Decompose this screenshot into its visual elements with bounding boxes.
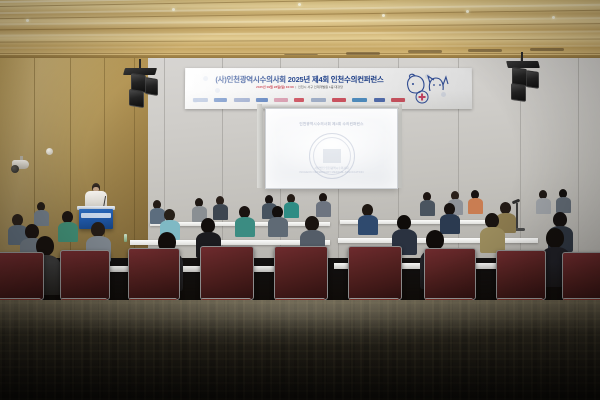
sponsor-logo bbox=[274, 98, 288, 102]
floor bbox=[0, 300, 600, 400]
sponsor-logo bbox=[311, 98, 326, 102]
sponsor-logo bbox=[234, 98, 250, 102]
screen-frame-left bbox=[257, 104, 263, 188]
wall-fixture bbox=[46, 148, 53, 155]
banner-date: 2025년 09월 28일(일) 10:00 bbox=[256, 85, 294, 89]
event-banner: (사)인천광역시수의사회 2025년 제4회 인천수의컨퍼런스 2025년 09… bbox=[185, 68, 472, 109]
banner-title: (사)인천광역시수의사회 2025년 제4회 인천수의컨퍼런스 bbox=[197, 76, 402, 83]
sponsor-logo bbox=[193, 98, 208, 102]
sponsor-logo bbox=[214, 98, 227, 102]
slide-heading: 인천광역시수의사회 제4회 수의컨퍼런스 bbox=[266, 122, 397, 127]
camera-lens-icon bbox=[11, 165, 19, 173]
slide-footer: 사단법인 인천광역시수의사회 INCHEON VETERINARY MEDICA… bbox=[266, 166, 397, 174]
banner-subtitle: 2025년 09월 28일(일) 10:00 | 인천시 서구 인재개발원 1층… bbox=[197, 86, 402, 89]
sponsor-logo bbox=[256, 98, 268, 102]
sponsor-logo bbox=[332, 98, 346, 102]
ceiling bbox=[0, 0, 600, 62]
sponsor-logo bbox=[391, 98, 405, 102]
sponsor-logo bbox=[294, 98, 304, 102]
banner-venue: 인천시 서구 인재개발원 1층 대강당 bbox=[298, 85, 343, 89]
conference-hall-photo: (사)인천광역시수의사회 2025년 제4회 인천수의컨퍼런스 2025년 09… bbox=[0, 0, 600, 400]
sponsor-logo-strip bbox=[193, 95, 405, 104]
sponsor-logo bbox=[374, 98, 385, 102]
projection-screen: 인천광역시수의사회 제4회 수의컨퍼런스 사단법인 인천광역시수의사회 INCH… bbox=[265, 108, 398, 189]
floor-microphone-pole bbox=[516, 203, 518, 229]
sponsor-logo bbox=[352, 98, 367, 102]
water-bottle bbox=[124, 234, 127, 242]
dog-and-cat-line-art-icon bbox=[404, 71, 466, 105]
